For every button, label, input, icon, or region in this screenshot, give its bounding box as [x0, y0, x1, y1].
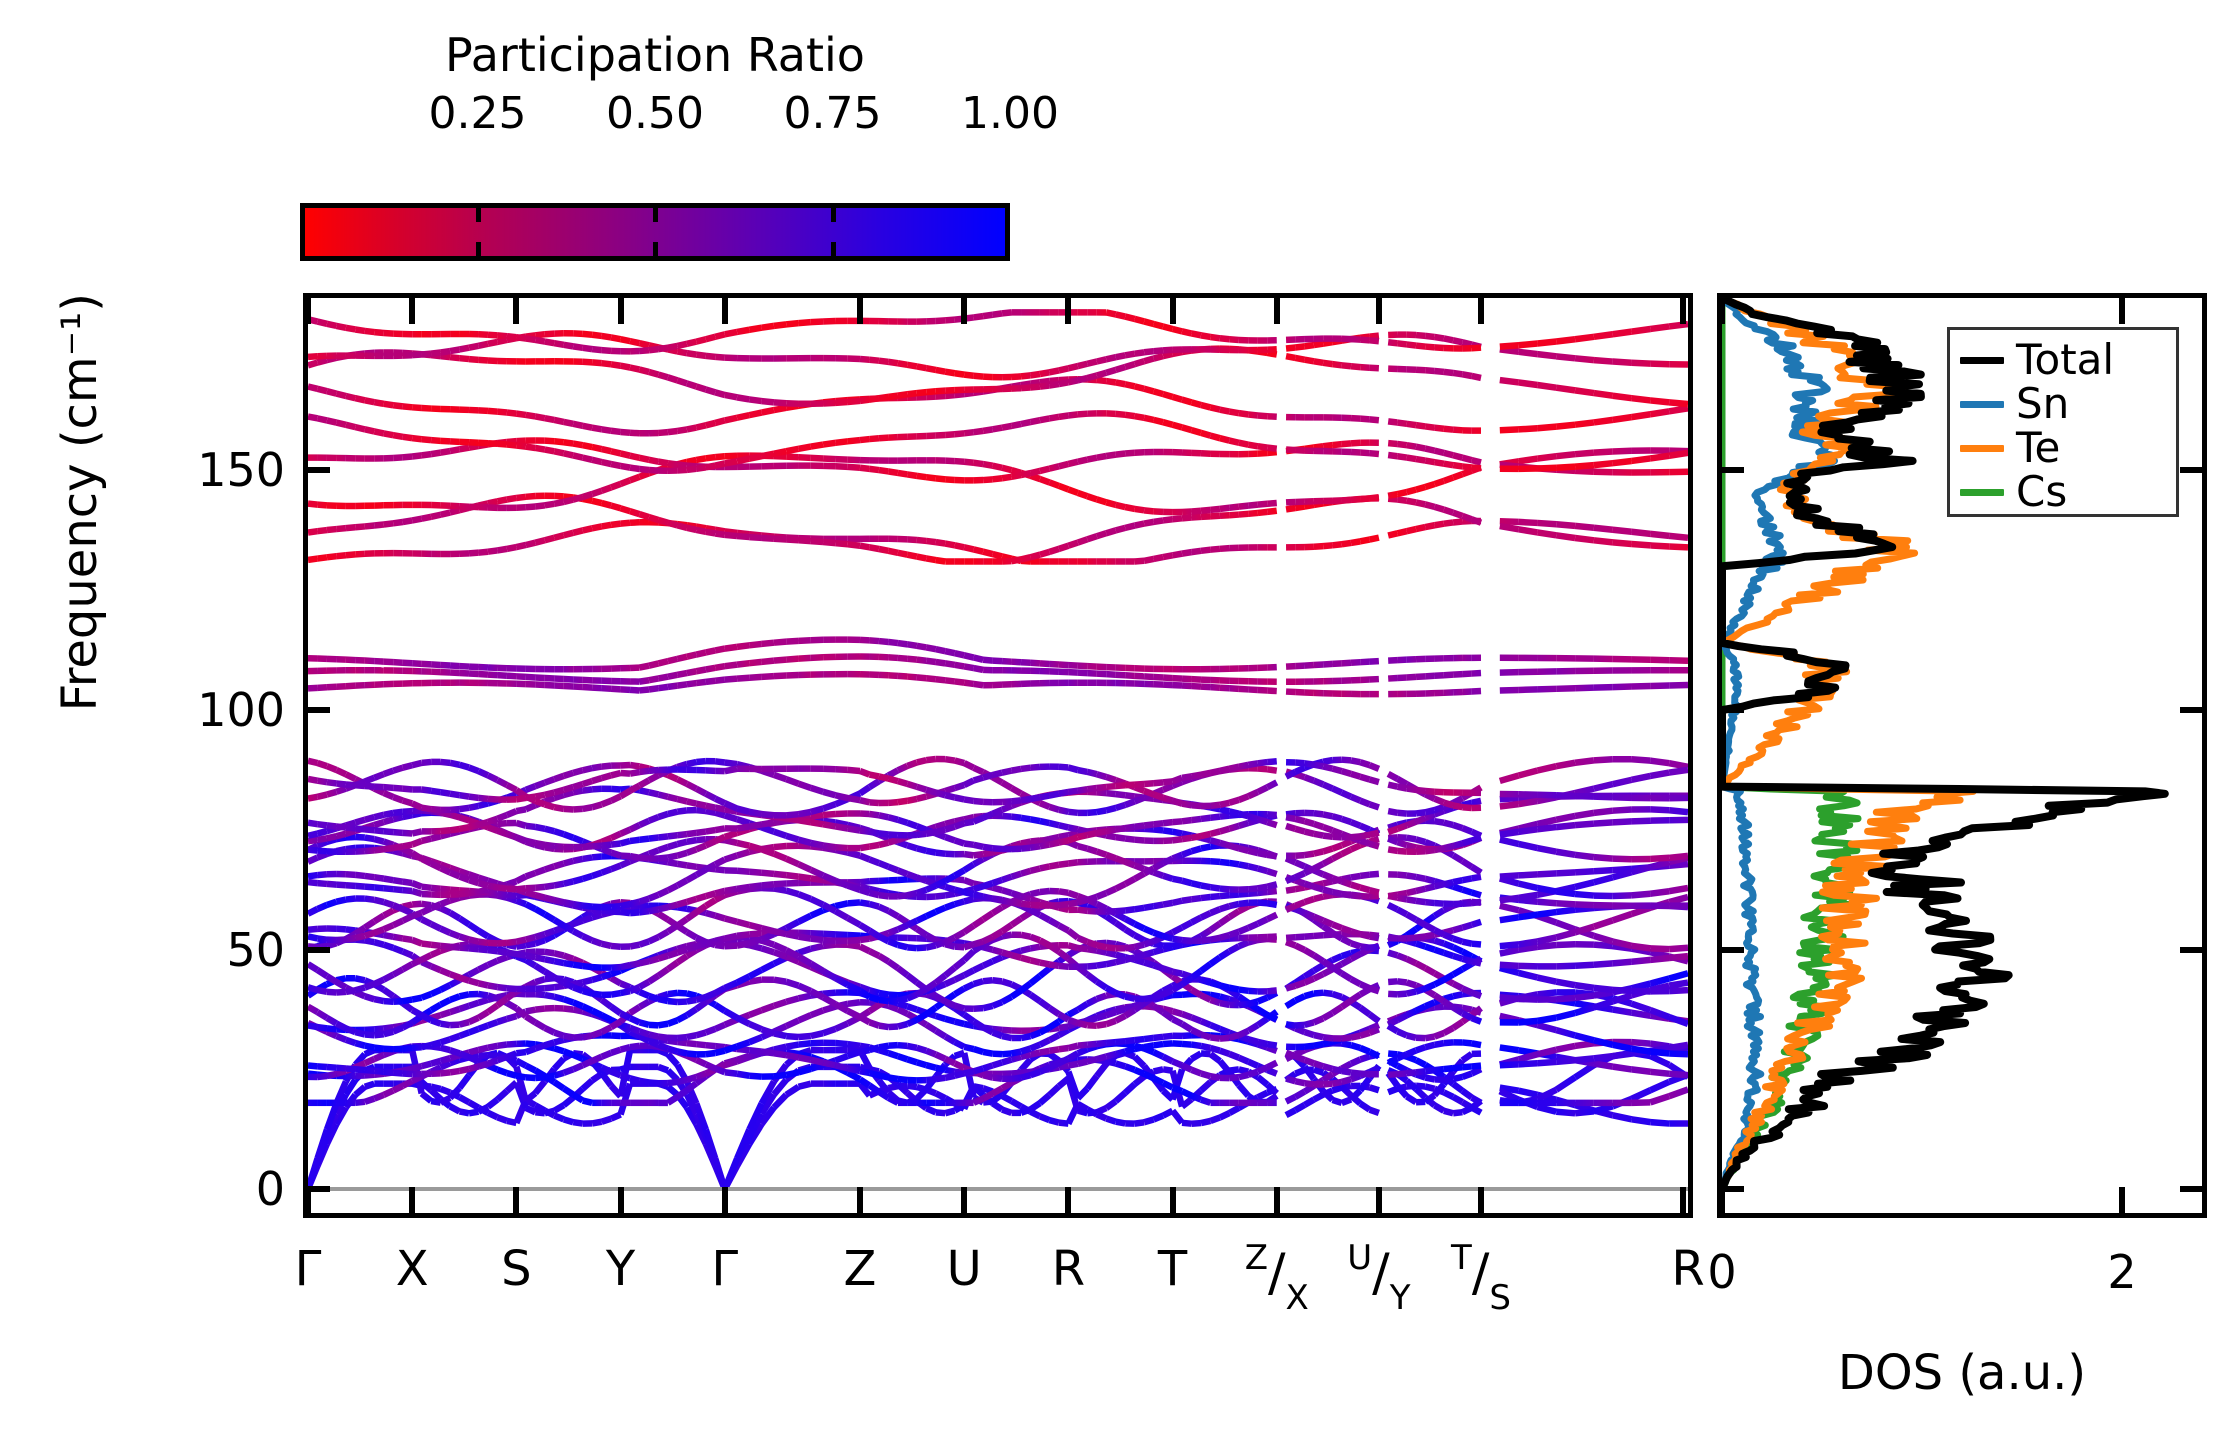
legend-item-label: Total — [2016, 339, 2114, 381]
legend-color-swatch — [1960, 445, 2004, 452]
legend-item-label: Sn — [2016, 383, 2069, 425]
dos-x-tick-label: 0 — [1707, 1245, 1736, 1299]
colorbar-tick-mark — [476, 208, 481, 222]
legend-item: Total — [1960, 338, 2166, 382]
legend-item: Cs — [1960, 470, 2166, 514]
band-y-axis-label-wrap: Frequency (cm⁻¹) — [62, 293, 122, 1218]
colorbar-title: Participation Ratio — [300, 28, 1010, 82]
band-y-tick-label: 0 — [256, 1162, 285, 1216]
colorbar-tick-mark — [476, 242, 481, 256]
band-y-tick-label: 150 — [197, 443, 285, 497]
band-y-tick-labels: 050100150 — [110, 293, 285, 1218]
colorbar-tick-label: 1.00 — [961, 88, 1059, 139]
legend-item-label: Cs — [2016, 471, 2067, 513]
colorbar-tick-labels: 0.250.500.751.00 — [300, 88, 1010, 140]
band-y-tick-label: 50 — [226, 923, 285, 977]
band-plot-area — [308, 298, 1688, 1213]
legend-color-swatch — [1960, 489, 2004, 496]
dos-x-tick-label: 2 — [2107, 1245, 2136, 1299]
colorbar-tick-mark — [653, 208, 658, 222]
dos-legend: TotalSnTeCs — [1947, 327, 2179, 517]
legend-item-label: Te — [2016, 427, 2060, 469]
colorbar-tick-mark — [831, 242, 836, 256]
band-curves — [308, 298, 1688, 1213]
figure-root: Participation Ratio 0.250.500.751.00 050… — [0, 0, 2222, 1455]
band-structure-panel — [303, 293, 1693, 1218]
colorbar-tick-mark — [831, 208, 836, 222]
legend-color-swatch — [1960, 401, 2004, 408]
dos-x-axis-label: DOS (a.u.) — [1838, 1345, 2086, 1401]
colorbar-tick-label: 0.25 — [429, 88, 527, 139]
colorbar-gradient — [300, 203, 1010, 261]
colorbar-tick-label: 0.75 — [784, 88, 882, 139]
colorbar-tick-label: 0.50 — [606, 88, 704, 139]
legend-item: Sn — [1960, 382, 2166, 426]
band-y-axis-label: Frequency (cm⁻¹) — [52, 293, 108, 711]
legend-item: Te — [1960, 426, 2166, 470]
dos-x-tick-labels: 02 — [0, 1245, 2222, 1315]
legend-color-swatch — [1960, 357, 2004, 364]
colorbar-tick-mark — [653, 242, 658, 256]
band-y-tick-label: 100 — [197, 683, 285, 737]
